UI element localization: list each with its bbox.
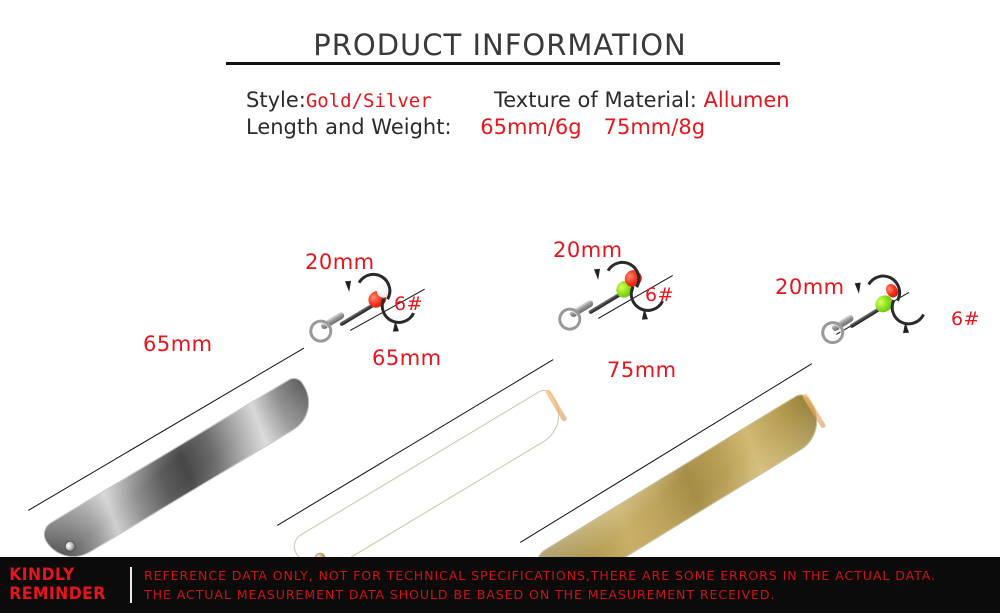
style-value: Gold/Silver — [306, 90, 432, 112]
hook-length-label-2: 20mm — [553, 238, 623, 262]
reminder-text-line-2: THE ACTUAL MEASUREMENT DATA SHOULD BE BA… — [144, 585, 936, 604]
blade-edge-highlight — [802, 393, 827, 429]
kindly-line-1: KINDLY — [9, 566, 118, 585]
length-weight-label: Length and Weight: — [246, 115, 452, 139]
spec-row-length-weight: Length and Weight: 65mm/6g75mm/8g — [246, 115, 946, 142]
body-length-label-3: 75mm — [607, 358, 677, 382]
hook-size-label-3: 6# — [951, 308, 980, 330]
kindly-line-2: REMINDER — [9, 585, 118, 604]
spec-row-style: Style:Gold/Silver Texture of Material: A… — [246, 88, 946, 115]
reminder-text-block: REFERENCE DATA ONLY, NOT FOR TECHNICAL S… — [144, 566, 936, 604]
reminder-inner: KINDLY REMINDER REFERENCE DATA ONLY, NOT… — [0, 562, 1000, 608]
blade-surface — [40, 375, 320, 567]
reminder-text-line-1: REFERENCE DATA ONLY, NOT FOR TECHNICAL S… — [144, 566, 936, 585]
hook-point-lower — [392, 320, 399, 331]
title-underline — [226, 62, 780, 65]
product-information-page: PRODUCT INFORMATION Style:Gold/Silver Te… — [0, 0, 1000, 613]
body-length-label-1: 65mm — [143, 332, 213, 356]
body-length-label-2: 65mm — [372, 346, 442, 370]
texture-label: Texture of Material: — [494, 88, 697, 112]
blade-surface — [290, 387, 570, 579]
style-label: Style: — [246, 88, 306, 112]
hook-length-label-3: 20mm — [775, 275, 845, 299]
hook-point-upper — [594, 269, 601, 281]
kindly-reminder-banner: KINDLY REMINDER REFERENCE DATA ONLY, NOT… — [0, 557, 1000, 613]
kindly-reminder-heading: KINDLY REMINDER — [0, 566, 118, 604]
blade-edge-highlight — [545, 389, 568, 422]
texture-group: Texture of Material: Allumen — [494, 88, 790, 113]
texture-value: Allumen — [704, 88, 790, 112]
hook-point-lower — [902, 322, 909, 333]
hook-point-lower — [641, 308, 648, 319]
length-weight-value-2: 75mm/8g — [604, 115, 705, 139]
hook-point-upper — [345, 281, 352, 293]
length-weight-value-1: 65mm/6g — [480, 115, 581, 139]
blade-sheen — [40, 375, 320, 567]
hook-length-label-1: 20mm — [305, 250, 375, 274]
page-title: PRODUCT INFORMATION — [0, 28, 1000, 62]
spec-block: Style:Gold/Silver Texture of Material: A… — [246, 88, 946, 142]
blade-sheen — [290, 387, 570, 579]
hook-point-upper — [855, 283, 862, 295]
reminder-divider — [130, 567, 132, 603]
product-photo-stage: 65mm 20mm 6# — [0, 150, 1000, 550]
